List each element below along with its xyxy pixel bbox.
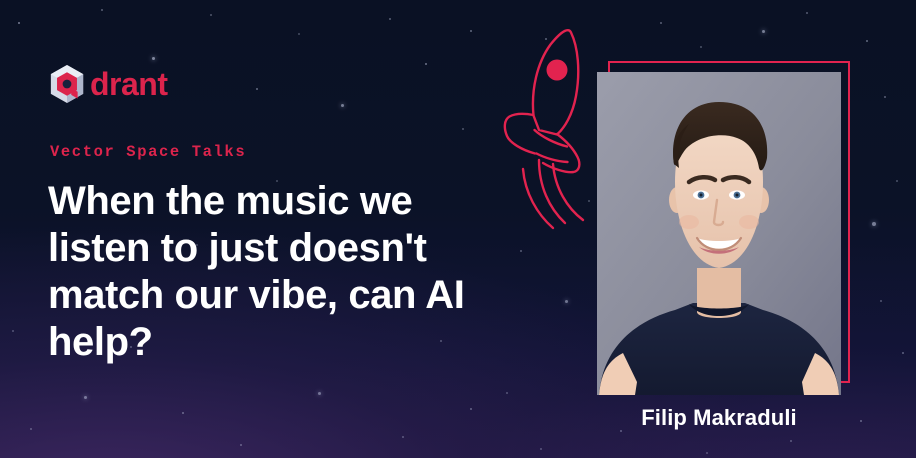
- qdrant-logo[interactable]: drant: [48, 64, 168, 104]
- series-eyebrow-label: Vector Space Talks: [50, 143, 246, 161]
- vector-space-talks-banner: drant Vector Space Talks When the music …: [0, 0, 916, 458]
- speaker-photo: [597, 72, 841, 395]
- qdrant-hexagon-logo-icon: [48, 64, 86, 104]
- speaker-name: Filip Makraduli: [597, 405, 841, 431]
- qdrant-wordmark: drant: [90, 68, 168, 100]
- page-title: When the music we listen to just doesn't…: [48, 178, 500, 366]
